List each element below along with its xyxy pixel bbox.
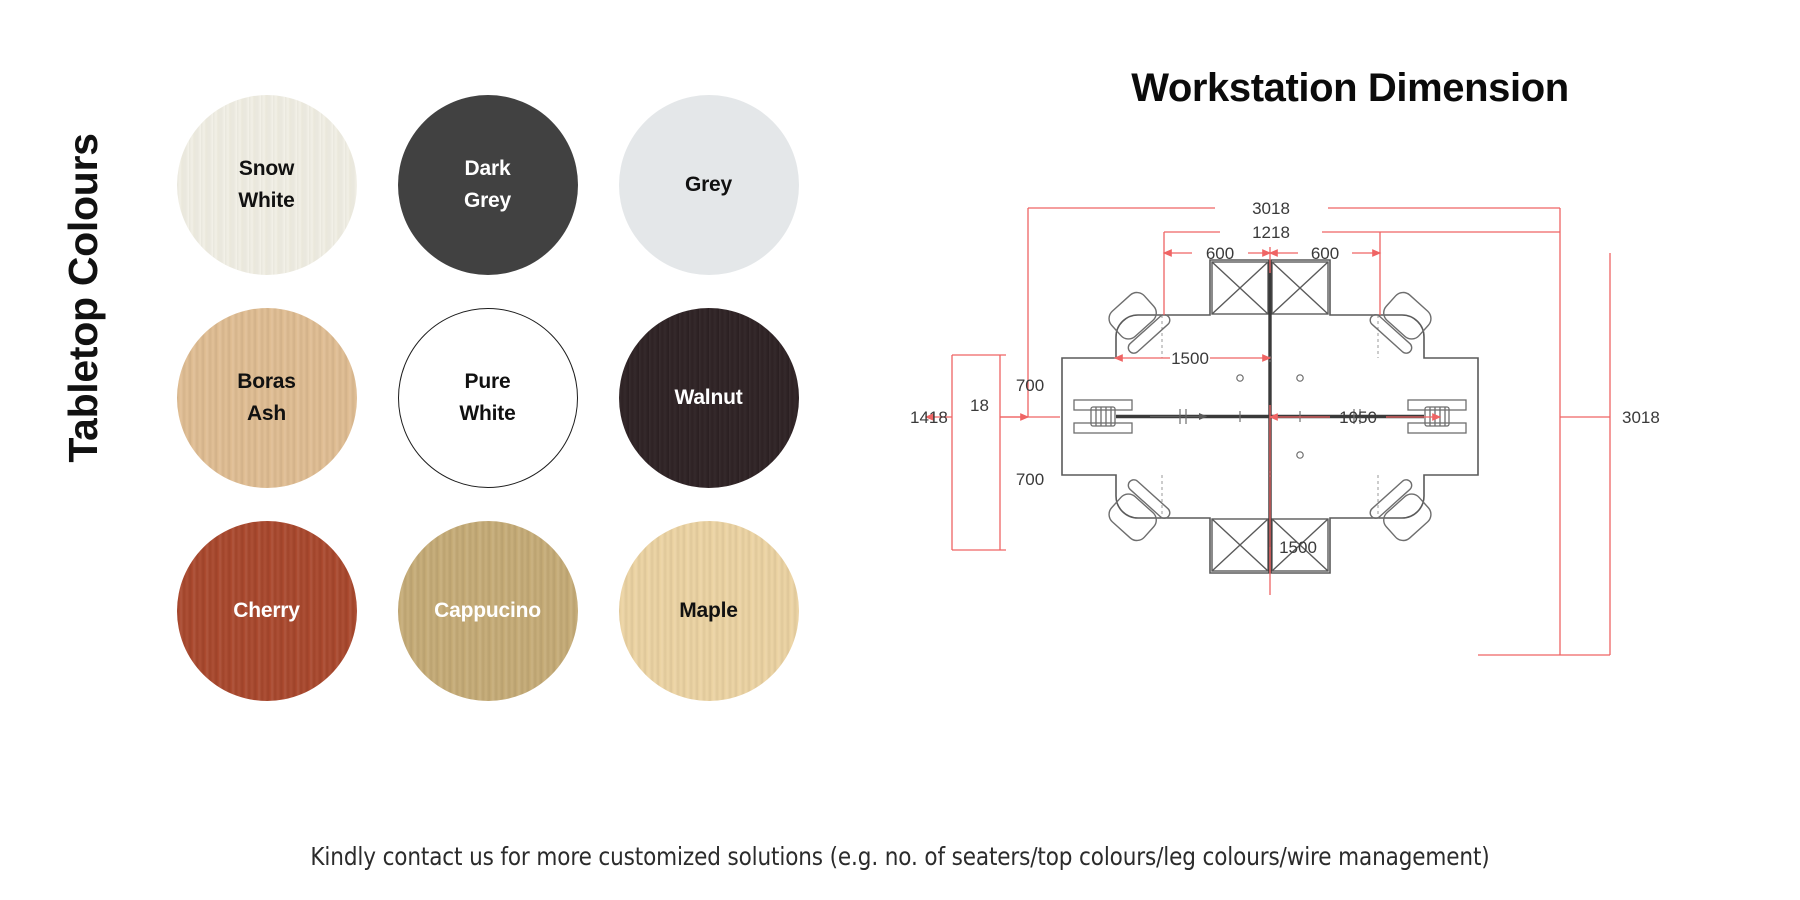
colour-swatch-label-line: Pure xyxy=(459,366,515,398)
dim-left-upper: 700 xyxy=(1016,376,1044,395)
workstation-dimension-panel: Workstation Dimension xyxy=(900,0,1800,820)
dim-left-small: 18 xyxy=(970,396,989,415)
colour-swatch-cherry[interactable]: Cherry xyxy=(177,521,357,701)
colour-swatch-label-line: Walnut xyxy=(674,382,742,414)
colour-swatch-label: Grey xyxy=(685,169,732,201)
colour-swatch-boras-ash[interactable]: BorasAsh xyxy=(177,308,357,488)
page-title-tabletop-colours: Tabletop Colours xyxy=(53,78,113,518)
colour-swatch-label: BorasAsh xyxy=(237,366,296,430)
dim-bottom-vertical: 1500 xyxy=(1279,538,1317,557)
dim-desk-left: 1500 xyxy=(1171,349,1209,368)
dim-inner-width-top: 1218 xyxy=(1252,223,1290,242)
colour-swatch-dark-grey[interactable]: DarkGrey xyxy=(398,95,578,275)
colour-swatch-label-line: White xyxy=(459,398,515,430)
colour-swatch-walnut[interactable]: Walnut xyxy=(619,308,799,488)
footer-contact-note: Kindly contact us for more customized so… xyxy=(108,842,1692,871)
colour-swatch-label-line: Grey xyxy=(464,185,511,217)
colour-swatch-label: SnowWhite xyxy=(238,153,294,217)
dim-overall-width-top: 3018 xyxy=(1252,199,1290,218)
colour-swatch-label: Maple xyxy=(679,595,738,627)
colour-swatch-label: PureWhite xyxy=(459,366,515,430)
colour-swatch-label: Walnut xyxy=(674,382,742,414)
dim-left-lower: 700 xyxy=(1016,470,1044,489)
colour-swatch-label: Cappucino xyxy=(434,595,541,627)
colour-swatch-grey[interactable]: Grey xyxy=(619,95,799,275)
colour-swatch-snow-white[interactable]: SnowWhite xyxy=(177,95,357,275)
colour-swatch-label: DarkGrey xyxy=(464,153,511,217)
colour-swatch-pure-white[interactable]: PureWhite xyxy=(398,308,578,488)
colour-swatch-label-line: Dark xyxy=(464,153,511,185)
dim-left-overall: 1418 xyxy=(910,408,948,427)
dim-desk-right: 1050 xyxy=(1339,408,1377,427)
colour-swatch-label: Cherry xyxy=(233,595,300,627)
tabletop-colours-panel: Tabletop Colours SnowWhiteDarkGreyGreyBo… xyxy=(0,0,900,820)
dim-half-right: 600 xyxy=(1311,244,1339,263)
colour-swatch-label-line: Ash xyxy=(237,398,296,430)
colour-swatch-label-line: Grey xyxy=(685,169,732,201)
colour-swatch-label-line: White xyxy=(238,185,294,217)
colour-swatch-label-line: Boras xyxy=(237,366,296,398)
dim-overall-height-right: 3018 xyxy=(1622,408,1660,427)
colour-swatch-label-line: Snow xyxy=(238,153,294,185)
colour-swatch-label-line: Cherry xyxy=(233,595,300,627)
dim-half-left: 600 xyxy=(1206,244,1234,263)
colour-swatch-grid: SnowWhiteDarkGreyGreyBorasAshPureWhiteWa… xyxy=(160,78,815,717)
colour-swatch-label-line: Maple xyxy=(679,595,738,627)
colour-swatch-label-line: Cappucino xyxy=(434,595,541,627)
colour-swatch-cappucino[interactable]: Cappucino xyxy=(398,521,578,701)
colour-swatch-maple[interactable]: Maple xyxy=(619,521,799,701)
page-title-workstation-dimension: Workstation Dimension xyxy=(900,66,1800,111)
workstation-floorplan-drawing: 3018 1218 600 600 700 700 1500 1050 1500… xyxy=(910,155,1790,675)
